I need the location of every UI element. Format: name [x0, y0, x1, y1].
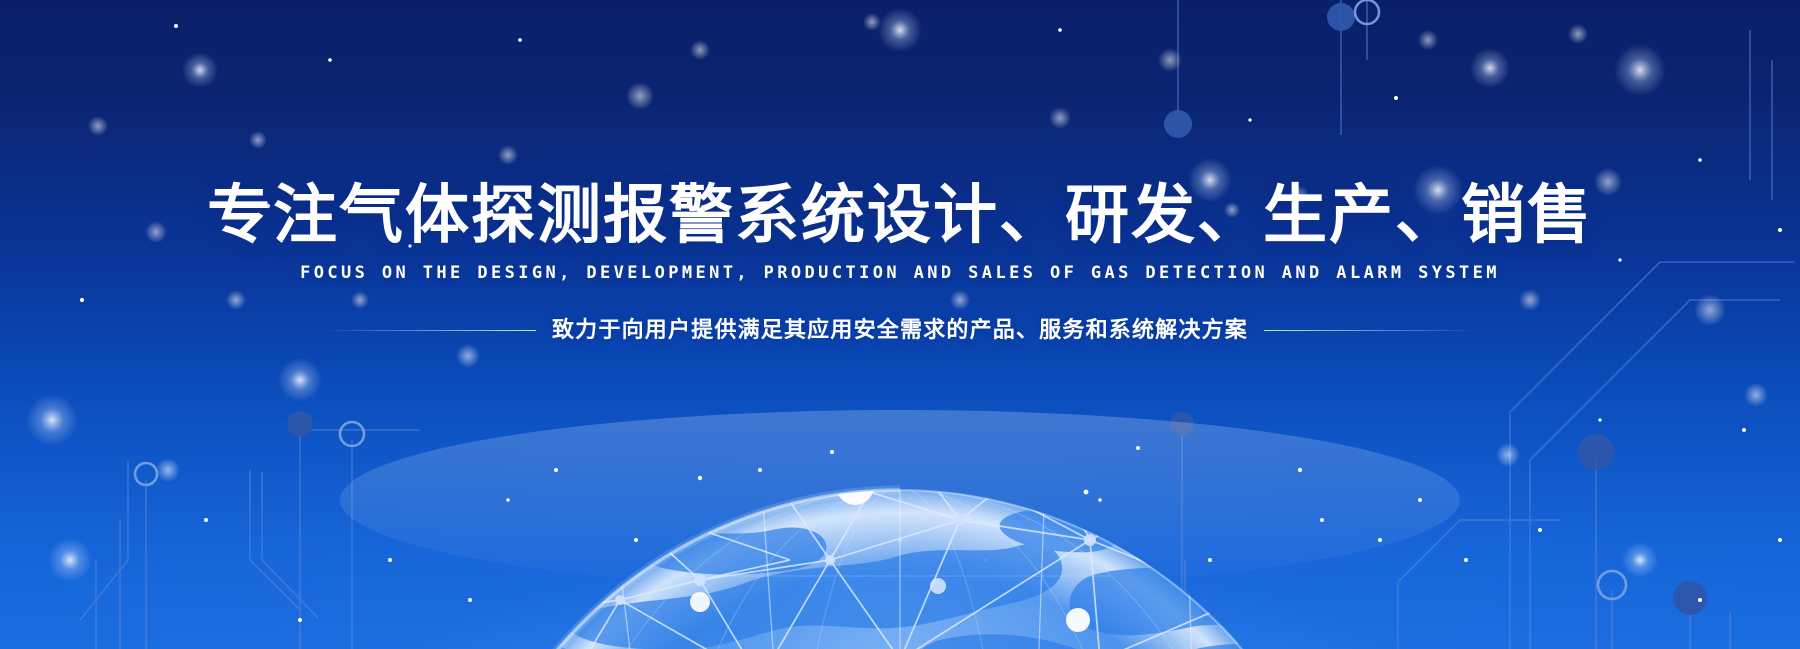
banner-text-block: 专注气体探测报警系统设计、研发、生产、销售 FOCUS ON THE DESIG… [0, 0, 1800, 343]
banner-headline: 专注气体探测报警系统设计、研发、生产、销售 [0, 178, 1800, 252]
banner-subheadline-english: FOCUS ON THE DESIGN, DEVELOPMENT, PRODUC… [0, 262, 1800, 284]
banner-tagline-row: 致力于向用户提供满足其应用安全需求的产品、服务和系统解决方案 [0, 317, 1800, 343]
banner-tagline: 致力于向用户提供满足其应用安全需求的产品、服务和系统解决方案 [536, 317, 1264, 343]
tagline-rule-left [331, 330, 536, 331]
tagline-rule-right [1264, 330, 1469, 331]
hero-banner: 专注气体探测报警系统设计、研发、生产、销售 FOCUS ON THE DESIG… [0, 0, 1800, 649]
